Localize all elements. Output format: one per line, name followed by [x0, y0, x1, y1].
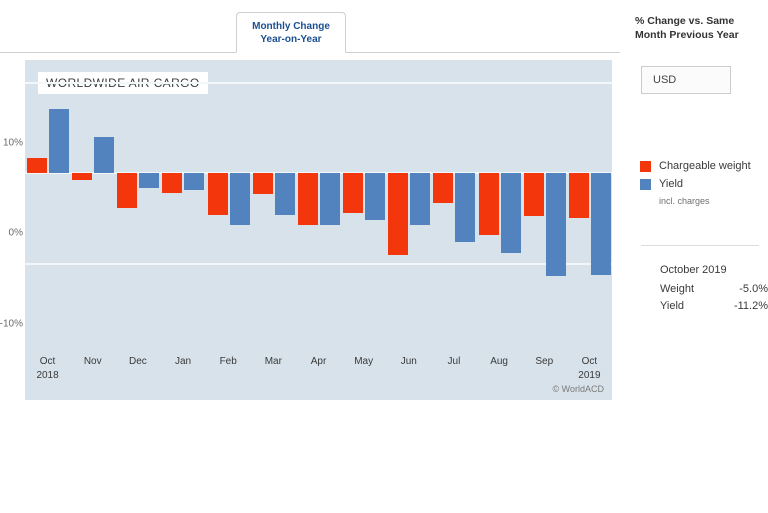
bar-yield[interactable] — [49, 109, 69, 173]
bar-yield[interactable] — [139, 173, 159, 187]
bar-chargeable-weight[interactable] — [298, 173, 318, 225]
bar-yield[interactable] — [546, 173, 566, 276]
summary-row-weight: Weight -5.0% — [660, 283, 768, 295]
bar-group — [386, 60, 431, 300]
bar-chargeable-weight[interactable] — [343, 173, 363, 213]
panel-divider — [641, 245, 759, 246]
summary-row-yield: Yield -11.2% — [660, 300, 768, 312]
bar-group — [522, 60, 567, 300]
x-axis-month: Aug — [490, 356, 508, 367]
bar-yield[interactable] — [275, 173, 295, 215]
x-axis-month: Dec — [129, 356, 147, 367]
bar-chargeable-weight[interactable] — [388, 173, 408, 255]
bar-group — [70, 60, 115, 300]
currency-select[interactable]: USD — [641, 66, 731, 94]
bar-chargeable-weight[interactable] — [433, 173, 453, 203]
x-axis-month: Oct — [582, 356, 598, 367]
x-axis-month: Jun — [401, 356, 417, 367]
x-axis-year: 2019 — [559, 370, 619, 381]
x-axis-labels: Oct2018NovDecJanFebMarAprMayJunJulAugSep… — [25, 356, 612, 396]
bar-group — [25, 60, 70, 300]
bar-yield[interactable] — [230, 173, 250, 225]
summary-block: October 2019 Weight -5.0% Yield -11.2% — [660, 264, 768, 317]
x-axis-month: Jul — [448, 356, 461, 367]
y-axis-tick-label: 10% — [3, 137, 23, 148]
bar-chargeable-weight[interactable] — [569, 173, 589, 218]
x-axis-tick-label: Oct2019 — [559, 356, 619, 381]
y-axis-tick-label: -10% — [0, 318, 23, 329]
bar-group — [567, 60, 612, 300]
x-axis-month: Oct — [40, 356, 56, 367]
summary-label: Weight — [660, 283, 694, 295]
plot-area — [25, 60, 612, 300]
bar-yield[interactable] — [410, 173, 430, 225]
bar-chargeable-weight[interactable] — [253, 173, 273, 194]
tab-bar: Monthly Change Year-on-Year — [0, 0, 620, 54]
bar-group — [477, 60, 522, 300]
bar-group — [160, 60, 205, 300]
y-axis-tick-label: 0% — [9, 228, 23, 239]
summary-value: -11.2% — [734, 300, 768, 312]
legend-label: Yield — [659, 178, 683, 190]
x-axis-month: Apr — [311, 356, 327, 367]
bar-yield[interactable] — [591, 173, 611, 274]
x-axis-month: Sep — [535, 356, 553, 367]
bar-chargeable-weight[interactable] — [72, 173, 92, 180]
bar-group — [206, 60, 251, 300]
bar-chargeable-weight[interactable] — [524, 173, 544, 216]
chart-legend: Chargeable weight Yield incl. charges — [640, 160, 768, 206]
y-axis-labels: 10%0%-10% — [0, 60, 25, 300]
legend-swatch-icon — [640, 161, 651, 172]
x-axis-year: 2018 — [18, 370, 78, 381]
x-axis-month: Nov — [84, 356, 102, 367]
bar-yield[interactable] — [501, 173, 521, 253]
x-axis-month: Mar — [265, 356, 282, 367]
summary-title: October 2019 — [660, 264, 768, 276]
bar-group — [431, 60, 476, 300]
tab-label-line1: Monthly Change — [252, 21, 330, 32]
bar-chargeable-weight[interactable] — [479, 173, 499, 235]
bar-chargeable-weight[interactable] — [208, 173, 228, 215]
bar-chargeable-weight[interactable] — [162, 173, 182, 193]
legend-note: incl. charges — [659, 196, 768, 206]
bar-yield[interactable] — [184, 173, 204, 189]
x-axis-month: Feb — [220, 356, 237, 367]
bar-yield[interactable] — [455, 173, 475, 242]
legend-item-yield[interactable]: Yield — [640, 178, 768, 190]
bar-chargeable-weight[interactable] — [117, 173, 137, 207]
right-panel: % Change vs. Same Month Previous Year US… — [620, 0, 768, 513]
bar-yield[interactable] — [94, 137, 114, 173]
x-axis-month: Jan — [175, 356, 191, 367]
bar-group — [296, 60, 341, 300]
summary-label: Yield — [660, 300, 684, 312]
summary-value: -5.0% — [739, 283, 768, 295]
x-axis-month: May — [354, 356, 373, 367]
legend-item-chargeable-weight[interactable]: Chargeable weight — [640, 160, 768, 172]
panel-heading: % Change vs. Same Month Previous Year — [635, 14, 765, 42]
bar-yield[interactable] — [320, 173, 340, 225]
bar-yield[interactable] — [365, 173, 385, 220]
panel-heading-line2: Month Previous Year — [635, 29, 739, 41]
bar-group — [251, 60, 296, 300]
legend-swatch-icon — [640, 179, 651, 190]
bar-chargeable-weight[interactable] — [27, 158, 47, 173]
legend-label: Chargeable weight — [659, 160, 751, 172]
tab-label-line2: Year-on-Year — [237, 33, 345, 46]
tab-monthly-change[interactable]: Monthly Change Year-on-Year — [236, 12, 346, 53]
bar-group — [115, 60, 160, 300]
bar-series-container — [25, 60, 612, 300]
panel-heading-line1: % Change vs. Same — [635, 15, 734, 27]
bar-group — [341, 60, 386, 300]
